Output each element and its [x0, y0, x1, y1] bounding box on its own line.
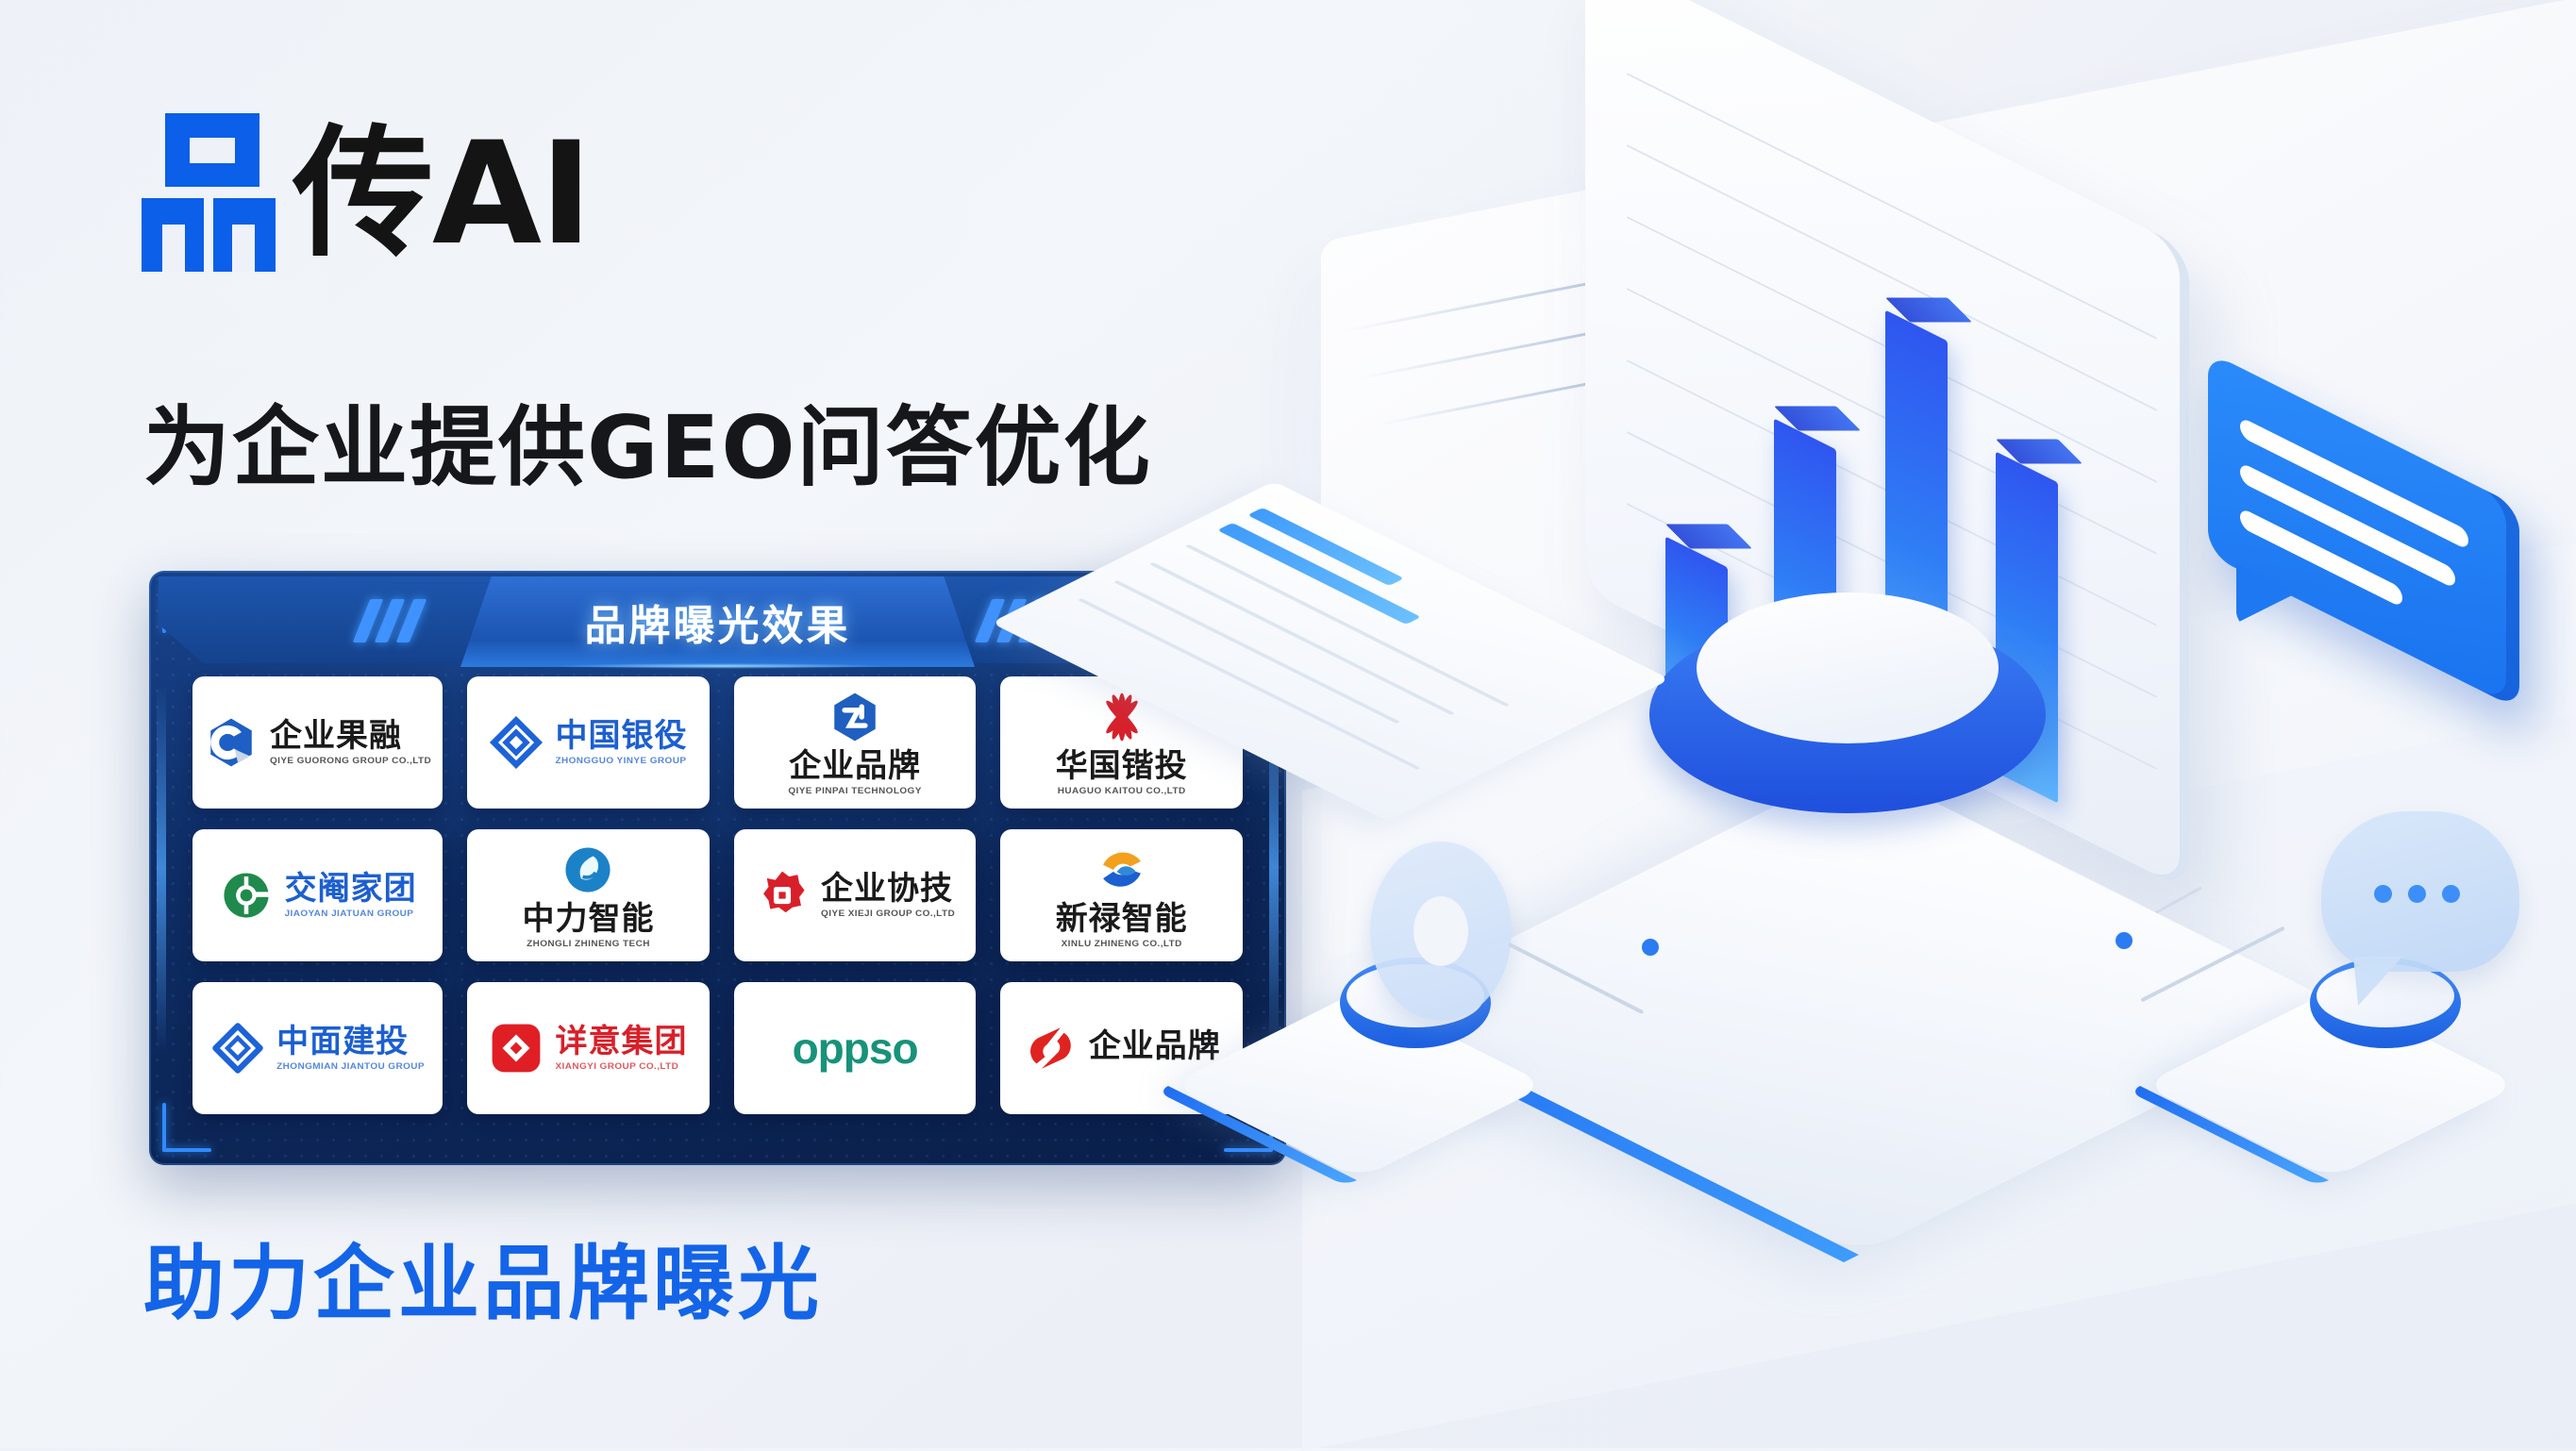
logo-name: 企业果融: [270, 720, 402, 752]
hex-arrow-mark: [828, 690, 882, 744]
logo-subtext: HUAGUO KAITOU CO.,LTD: [1058, 787, 1186, 795]
logo-subtext: QIYE PINPAI TECHNOLOGY: [788, 787, 921, 795]
connector-node-dot: [1642, 939, 1659, 956]
orange-blue-swirl-mark: [1095, 842, 1149, 897]
logo-name: 中国银役: [555, 720, 687, 752]
logo-subtext: QIYE XIEJI GROUP CO.,LTD: [821, 909, 955, 918]
logo-card[interactable]: 详意集团 XIANGYI GROUP CO.,LTD: [467, 982, 710, 1114]
logo-name: 详意集团: [555, 1026, 687, 1058]
logo-subtext: XINLU ZHINENG CO.,LTD: [1062, 940, 1182, 948]
tagline: 为企业提供GEO问答优化: [143, 377, 1152, 503]
cloud-message-icon: [2321, 811, 2519, 972]
logo-name: 企业协技: [821, 873, 953, 905]
blue-diamond-outline-mark: [210, 1021, 265, 1076]
isometric-illustration: [1302, 38, 2576, 1448]
logo-card[interactable]: 中面建投 ZHONGMIAN JIANTOU GROUP: [192, 982, 443, 1114]
logo-card[interactable]: 中力智能 ZHONGLI ZHINENG TECH: [467, 829, 710, 961]
logo-subtext: ZHONGLI ZHINENG TECH: [527, 940, 650, 948]
red-swirl-mark: [1023, 1021, 1078, 1076]
pin-logo-mark: [142, 113, 283, 259]
green-circle-mark: [219, 868, 274, 923]
red-rounded-square-mark: [489, 1021, 544, 1076]
logo-wordmark: oppso: [793, 1023, 918, 1074]
ring-icon: [1370, 842, 1512, 1021]
logo-card[interactable]: 企业协技 QIYE XIEJI GROUP CO.,LTD: [734, 829, 977, 961]
logo-card[interactable]: 中国银役 ZHONGGUO YINYE GROUP: [467, 676, 710, 809]
red-gear-mark: [755, 868, 810, 923]
logo-card[interactable]: 新禄智能 XINLU ZHINENG CO.,LTD: [1000, 829, 1243, 961]
platform-ring-inner: [1697, 592, 1999, 743]
logo-grid: 企业果融 QIYE GUORONG GROUP CO.,LTD 中国银役 ZHO…: [192, 676, 1243, 1114]
logo-name: 企业品牌: [1089, 1030, 1221, 1062]
logo-name: 新禄智能: [1056, 903, 1188, 935]
logo-subtext: XIANGYI GROUP CO.,LTD: [555, 1062, 678, 1071]
diamond-layers-mark: [489, 715, 544, 770]
logo-card[interactable]: oppso: [734, 982, 977, 1114]
chat-bubble-icon: [2208, 352, 2519, 710]
logo-subtext: ZHONGGUO YINYE GROUP: [555, 757, 686, 765]
logo-name: 企业品牌: [789, 750, 921, 782]
logo-card[interactable]: 企业果融 QIYE GUORONG GROUP CO.,LTD: [192, 676, 443, 809]
footer-slogan: 助力企业品牌曝光: [143, 1217, 823, 1335]
logo-subtext: ZHONGMIAN JIANTOU GROUP: [276, 1062, 425, 1071]
logo-subtext: QIYE GUORONG GROUP CO.,LTD: [270, 757, 431, 765]
panel-side-accent: [157, 684, 166, 1052]
platform-base: [1368, 764, 2350, 1255]
logo-name: 中面建投: [276, 1026, 409, 1058]
teal-drop-circle-mark: [560, 842, 615, 897]
poster-canvas: 传AI 为企业提供GEO问答优化 助力企业品牌曝光 品牌曝光效果 企业果: [0, 0, 2576, 1448]
logo-subtext: JIAOYAN JIATUAN GROUP: [285, 909, 414, 918]
logo-name: 交阉家团: [285, 873, 417, 905]
logo-card[interactable]: 企业品牌 QIYE PINPAI TECHNOLOGY: [734, 676, 977, 809]
logo-name: 华国锴投: [1056, 750, 1188, 782]
logo-name: 中力智能: [522, 903, 654, 935]
logo-card[interactable]: 交阉家团 JIAOYAN JIATUAN GROUP: [192, 829, 443, 961]
brand-lockup: 传AI: [142, 113, 591, 259]
connector-node-dot: [2116, 932, 2133, 949]
c-shield-mark: [204, 715, 259, 770]
brand-name: 传AI: [293, 129, 591, 259]
